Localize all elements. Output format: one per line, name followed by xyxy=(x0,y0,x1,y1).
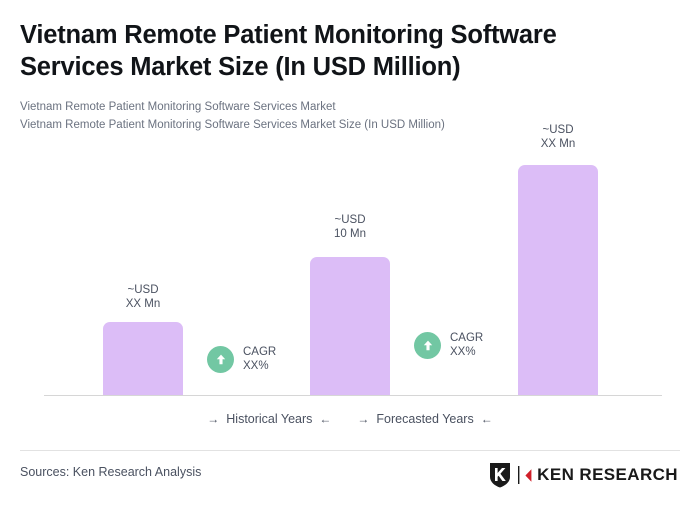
bar-3-value-label: ~USD 10 Mn xyxy=(310,213,390,242)
page-title: Vietnam Remote Patient Monitoring Softwa… xyxy=(20,20,620,83)
bar-chart-plot-area: ~USD XX Mn CAGR XX% ~USD 10 Mn xyxy=(0,150,700,396)
year-band: → Historical Years ← → Forecasted Years … xyxy=(0,408,700,430)
bar-4-value-line-1: ~USD xyxy=(518,123,598,137)
arrow-up-icon xyxy=(414,332,441,359)
bar-1 xyxy=(103,322,183,395)
bar-3-value-line-2: 10 Mn xyxy=(310,227,390,241)
arrow-up-icon xyxy=(207,346,234,373)
cagr-badge-1: CAGR XX% xyxy=(207,345,276,374)
arrow-right-icon: → xyxy=(357,412,369,426)
x-axis-baseline xyxy=(44,395,662,396)
cagr-badge-1-line-1: CAGR xyxy=(243,345,276,359)
cagr-badge-1-text: CAGR XX% xyxy=(243,345,276,374)
bar-1-value-label: ~USD XX Mn xyxy=(103,283,183,312)
logo-red-triangle-icon xyxy=(525,468,532,483)
forecasted-years-text: Forecasted Years xyxy=(376,412,473,426)
sources-text: Sources: Ken Research Analysis xyxy=(20,465,201,479)
footer-divider xyxy=(20,450,680,451)
chart-page: Vietnam Remote Patient Monitoring Softwa… xyxy=(0,0,700,520)
historical-years-text: Historical Years xyxy=(226,412,312,426)
cagr-badge-2-line-1: CAGR xyxy=(450,331,483,345)
logo-divider-icon xyxy=(517,465,520,485)
subtitle-line-1: Vietnam Remote Patient Monitoring Softwa… xyxy=(20,99,336,116)
cagr-badge-1-line-2: XX% xyxy=(243,359,276,373)
bar-4 xyxy=(518,165,598,395)
historical-years-label: → Historical Years ← xyxy=(207,412,331,426)
bar-3 xyxy=(310,257,390,395)
bar-1-value-line-1: ~USD xyxy=(103,283,183,297)
cagr-badge-2-text: CAGR XX% xyxy=(450,331,483,360)
ken-research-shield-icon xyxy=(488,462,512,488)
bar-4-value-line-2: XX Mn xyxy=(518,137,598,151)
subtitle-line-2: Vietnam Remote Patient Monitoring Softwa… xyxy=(20,117,445,134)
arrow-left-icon: ← xyxy=(481,412,493,426)
cagr-badge-2-line-2: XX% xyxy=(450,345,483,359)
arrow-right-icon: → xyxy=(207,412,219,426)
forecasted-years-label: → Forecasted Years ← xyxy=(357,412,492,426)
bar-1-value-line-2: XX Mn xyxy=(103,297,183,311)
bar-4-value-label: ~USD XX Mn xyxy=(518,123,598,152)
logo-text: KEN RESEARCH xyxy=(537,465,678,485)
arrow-left-icon: ← xyxy=(319,412,331,426)
ken-research-logo: KEN RESEARCH xyxy=(488,462,678,488)
bar-3-value-line-1: ~USD xyxy=(310,213,390,227)
cagr-badge-2: CAGR XX% xyxy=(414,331,483,360)
